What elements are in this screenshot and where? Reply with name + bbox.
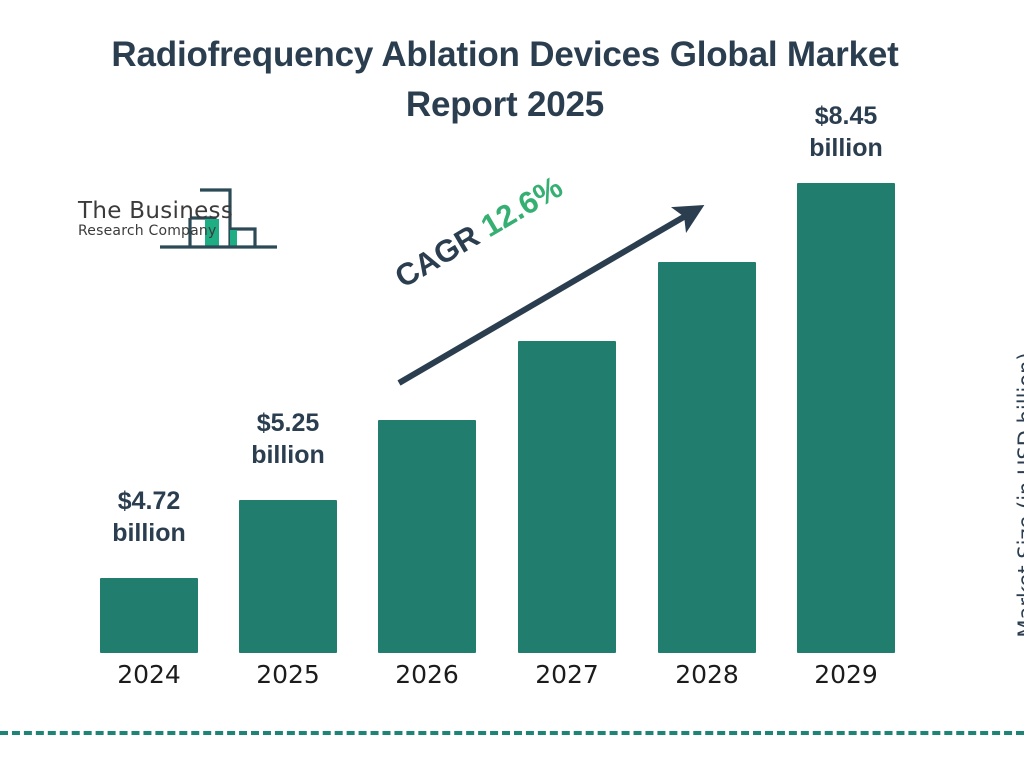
logo-line-1: The Business [78,199,233,223]
bar-2028 [658,262,756,653]
bar-value-label-2025: $5.25 billion [228,407,348,471]
footer-divider [0,731,1024,735]
x-tick-2028: 2028 [647,660,767,689]
bar-2026 [378,420,476,653]
x-tick-2025: 2025 [228,660,348,689]
bar-value-label-2024: $4.72 billion [89,485,209,549]
bar-2025 [239,500,337,653]
x-tick-2026: 2026 [367,660,487,689]
bar-chart-plot: $4.72 billion $5.25 billion $8.45 billio… [0,0,1024,768]
x-tick-2024: 2024 [89,660,209,689]
bar-2029 [797,183,895,653]
y-axis-title: Market Size (in USD billion) [1014,330,1024,660]
x-tick-2029: 2029 [786,660,906,689]
bar-2024 [100,578,198,653]
logo-wordmark: The Business Research Company [78,199,233,240]
logo-line-2: Research Company [78,224,233,239]
infographic-canvas: Radiofrequency Ablation Devices Global M… [0,0,1024,768]
bar-value-label-2029: $8.45 billion [786,100,906,164]
bar-2027 [518,341,616,653]
x-tick-2027: 2027 [507,660,627,689]
company-logo: The Business Research Company [72,185,287,255]
